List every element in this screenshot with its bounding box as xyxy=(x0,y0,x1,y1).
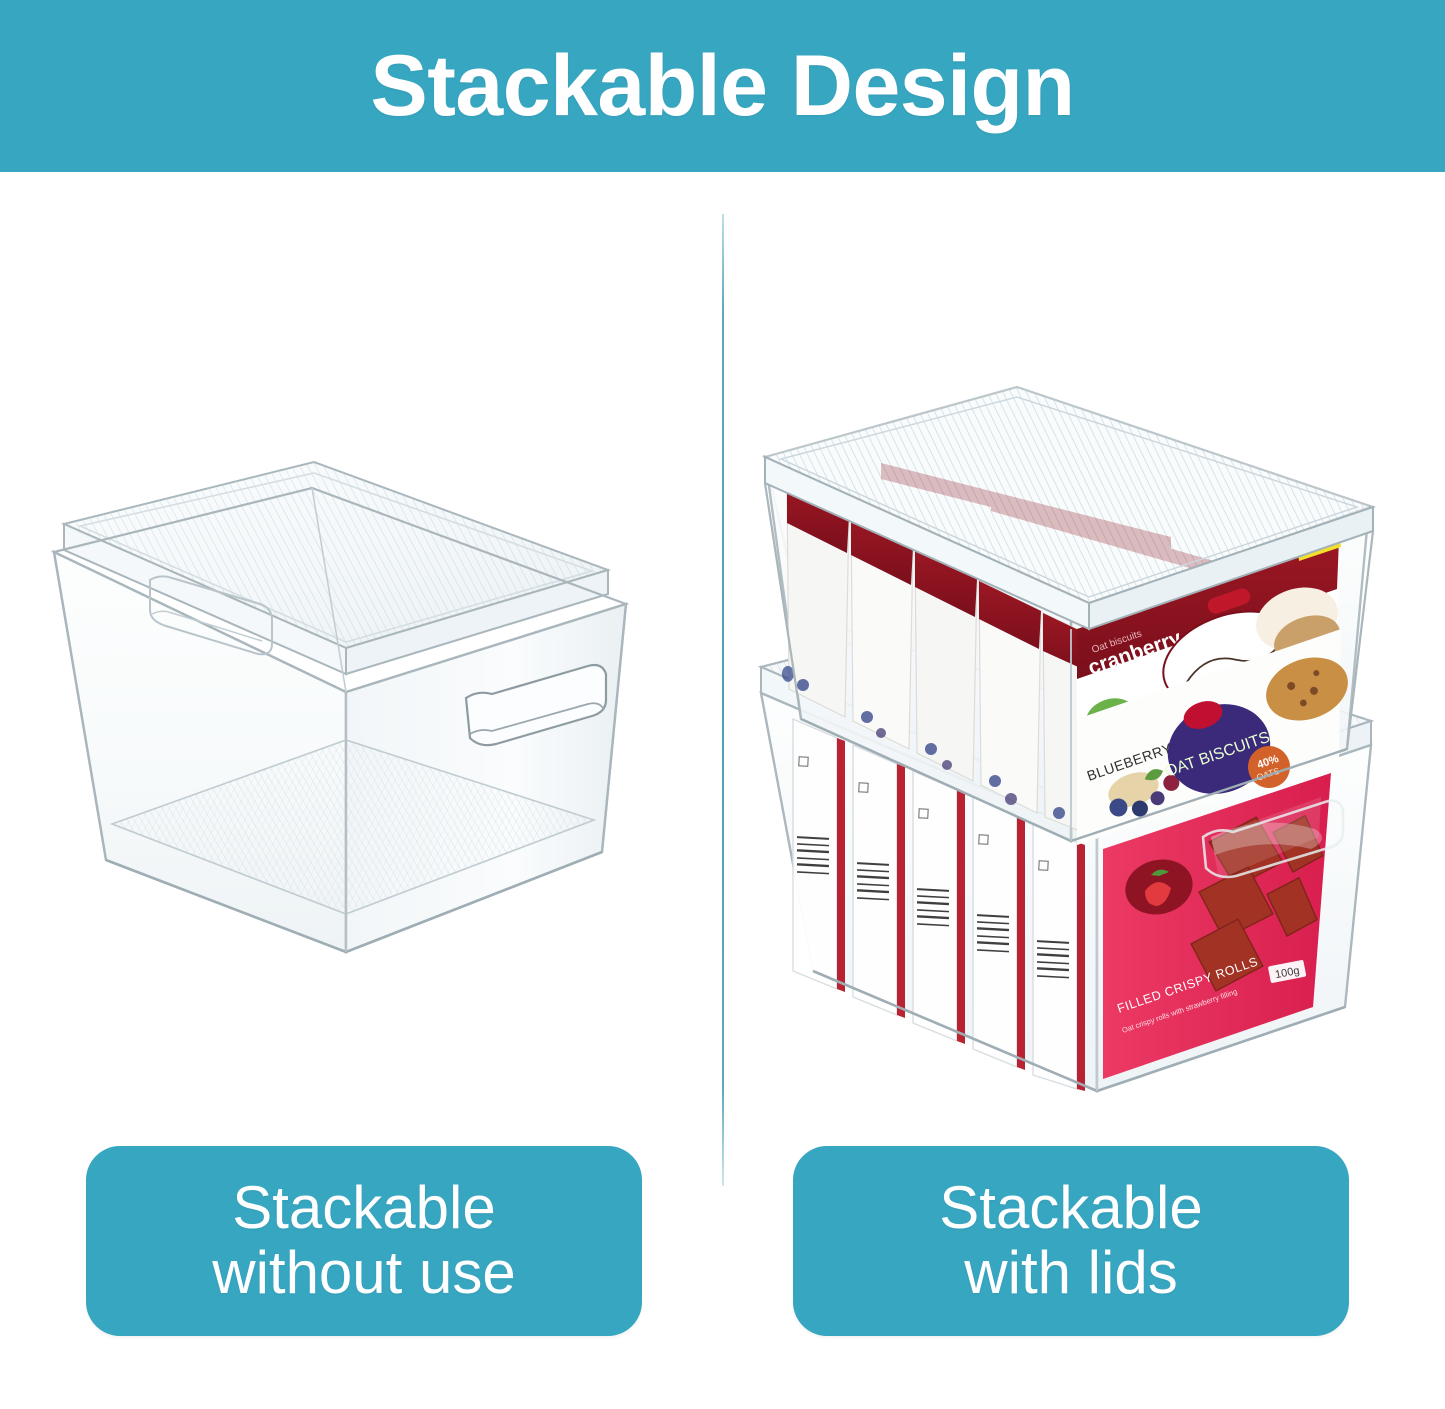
panel-stackable-with-lids: 100g FILLED CRISPY ROLLS Oat crispy roll… xyxy=(723,172,1445,1132)
panel-stackable-without-use xyxy=(0,172,722,1132)
page-title: Stackable Design xyxy=(370,43,1074,129)
caption-pill-with-lids: Stackable with lids xyxy=(793,1146,1349,1336)
caption-row: Stackable without use Stackable with lid… xyxy=(0,1146,1445,1336)
stacked-containers-illustration: 100g FILLED CRISPY ROLLS Oat crispy roll… xyxy=(741,367,1401,1127)
caption-pill-without-use: Stackable without use xyxy=(86,1146,642,1336)
single-container-illustration xyxy=(46,452,686,1012)
header-banner: Stackable Design xyxy=(0,0,1445,172)
caption-text-without-use: Stackable without use xyxy=(212,1176,516,1306)
caption-text-with-lids: Stackable with lids xyxy=(939,1176,1203,1306)
product-comparison-stage: 100g FILLED CRISPY ROLLS Oat crispy roll… xyxy=(0,172,1445,1132)
